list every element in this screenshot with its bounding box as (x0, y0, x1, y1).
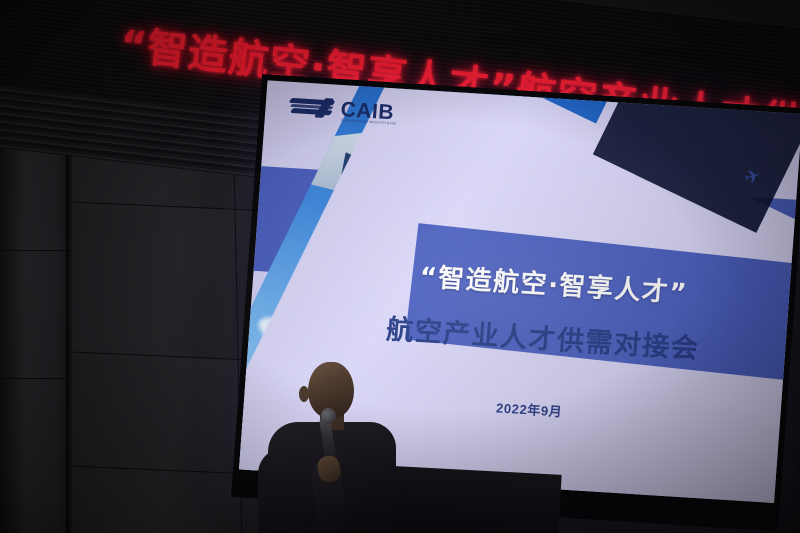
conference-photo: “智造航空·智享人才”航空产业人才供需对接会 (0, 0, 800, 533)
presenter (252, 356, 412, 533)
wall-seam (0, 250, 70, 251)
wall-seam (0, 378, 70, 379)
presenter-ear (299, 386, 309, 402)
caib-logo-mark (289, 95, 337, 120)
